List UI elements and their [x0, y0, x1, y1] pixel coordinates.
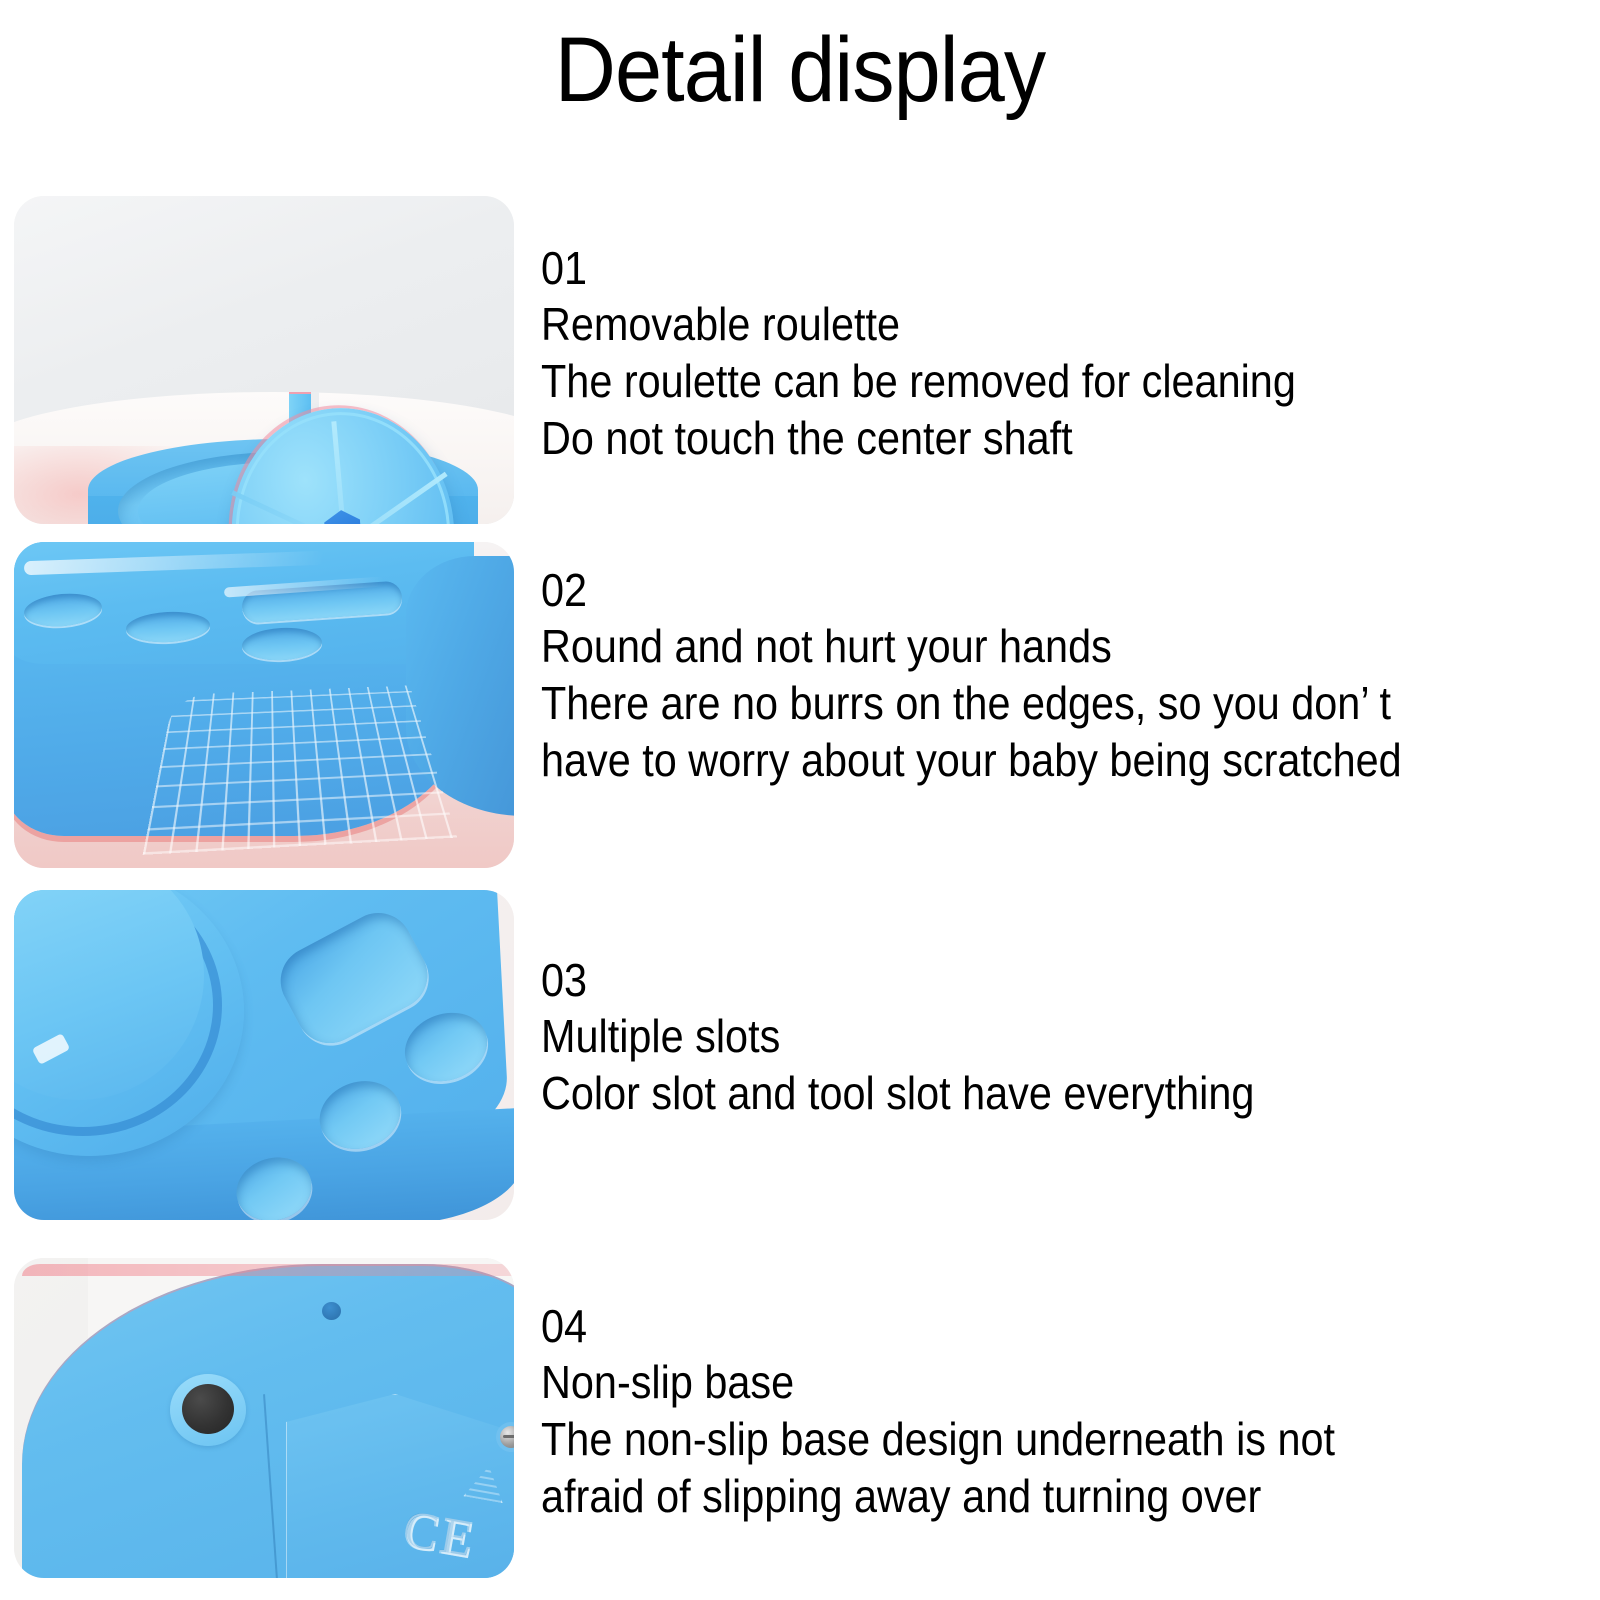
block-description-line: afraid of slipping away and turning over: [541, 1468, 1482, 1525]
block-heading: Non-slip base: [541, 1354, 1482, 1411]
block-number: 04: [541, 1298, 1482, 1354]
product-photo-non-slip-base: CE: [14, 1258, 514, 1578]
block-heading: Removable roulette: [541, 296, 1482, 353]
rubber-foot: [182, 1384, 234, 1434]
block-heading: Round and not hurt your hands: [541, 618, 1482, 675]
vent-hole: [322, 1302, 341, 1320]
ce-mark: CE: [399, 1500, 481, 1571]
block-description-line: The non-slip base design underneath is n…: [541, 1411, 1482, 1468]
block-description-line: have to worry about your baby being scra…: [541, 732, 1482, 789]
detail-text-block-02: 02 Round and not hurt your hands There a…: [541, 562, 1586, 789]
detail-text-block-01: 01 Removable roulette The roulette can b…: [541, 240, 1586, 467]
page-title: Detail display: [64, 22, 1536, 119]
product-photo-rounded-edges: [14, 542, 514, 868]
detail-text-block-04: 04 Non-slip base The non-slip base desig…: [541, 1298, 1586, 1525]
detail-text-block-03: 03 Multiple slots Color slot and tool sl…: [541, 952, 1586, 1122]
photo-scene-3: [14, 890, 514, 1220]
block-number: 03: [541, 952, 1482, 1008]
detail-display-page: Detail display: [0, 0, 1600, 1600]
block-description-line: Do not touch the center shaft: [541, 410, 1482, 467]
product-photo-multiple-slots: [14, 890, 514, 1220]
block-heading: Multiple slots: [541, 1008, 1482, 1065]
product-photo-removable-roulette: [14, 196, 514, 524]
block-description-line: Color slot and tool slot have everything: [541, 1065, 1482, 1122]
block-description-line: The roulette can be removed for cleaning: [541, 353, 1482, 410]
block-number: 02: [541, 562, 1482, 618]
photo-scene-2: [14, 542, 514, 868]
block-number: 01: [541, 240, 1482, 296]
photo-scene-1: [14, 196, 514, 524]
base-edge-line: [22, 1264, 514, 1276]
photo-scene-4: CE: [14, 1258, 514, 1578]
block-description-line: There are no burrs on the edges, so you …: [541, 675, 1482, 732]
grid-texture: [143, 685, 458, 854]
